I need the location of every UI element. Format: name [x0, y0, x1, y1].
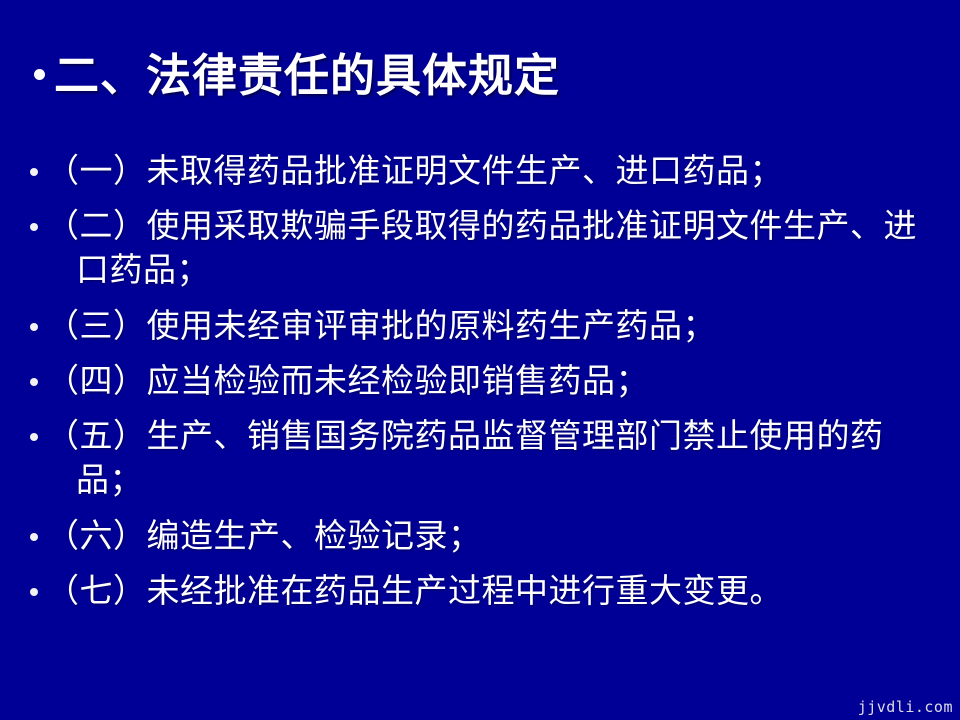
- list-item-text: （六）编造生产、检验记录；: [38, 515, 930, 559]
- round-bullet-icon: [30, 168, 38, 176]
- bullet-list: （一）未取得药品批准证明文件生产、进口药品； （二）使用采取欺骗手段取得的药品批…: [30, 150, 930, 625]
- round-bullet-icon: [30, 378, 38, 386]
- list-item-text: （七）未经批准在药品生产过程中进行重大变更。: [38, 570, 930, 614]
- round-bullet-icon: [30, 433, 38, 441]
- list-item-text: （四）应当检验而未经检验即销售药品；: [38, 360, 930, 404]
- round-bullet-icon: [30, 223, 38, 231]
- list-item-text: （三）使用未经审评审批的原料药生产药品；: [38, 305, 930, 349]
- list-item: （三）使用未经审评审批的原料药生产药品；: [30, 305, 930, 349]
- page-title: 二、法律责任的具体规定: [54, 52, 560, 101]
- list-item: （七）未经批准在药品生产过程中进行重大变更。: [30, 570, 930, 614]
- list-item-text: （二）使用采取欺骗手段取得的药品批准证明文件生产、进口药品；: [38, 205, 930, 293]
- list-item: （二）使用采取欺骗手段取得的药品批准证明文件生产、进口药品；: [30, 205, 930, 293]
- list-item: （四）应当检验而未经检验即销售药品；: [30, 360, 930, 404]
- list-item-text: （一）未取得药品批准证明文件生产、进口药品；: [38, 150, 930, 194]
- list-item: （六）编造生产、检验记录；: [30, 515, 930, 559]
- round-bullet-icon: [30, 588, 38, 596]
- presentation-slide: 二、法律责任的具体规定 （一）未取得药品批准证明文件生产、进口药品； （二）使用…: [0, 0, 960, 720]
- round-bullet-icon: [30, 323, 38, 331]
- slide-title-row: 二、法律责任的具体规定: [34, 52, 924, 101]
- round-bullet-icon: [34, 69, 45, 80]
- round-bullet-icon: [30, 533, 38, 541]
- list-item: （一）未取得药品批准证明文件生产、进口药品；: [30, 150, 930, 194]
- list-item: （五）生产、销售国务院药品监督管理部门禁止使用的药品；: [30, 415, 930, 503]
- list-item-text: （五）生产、销售国务院药品监督管理部门禁止使用的药品；: [38, 415, 930, 503]
- watermark: jjvdli.com: [858, 698, 953, 716]
